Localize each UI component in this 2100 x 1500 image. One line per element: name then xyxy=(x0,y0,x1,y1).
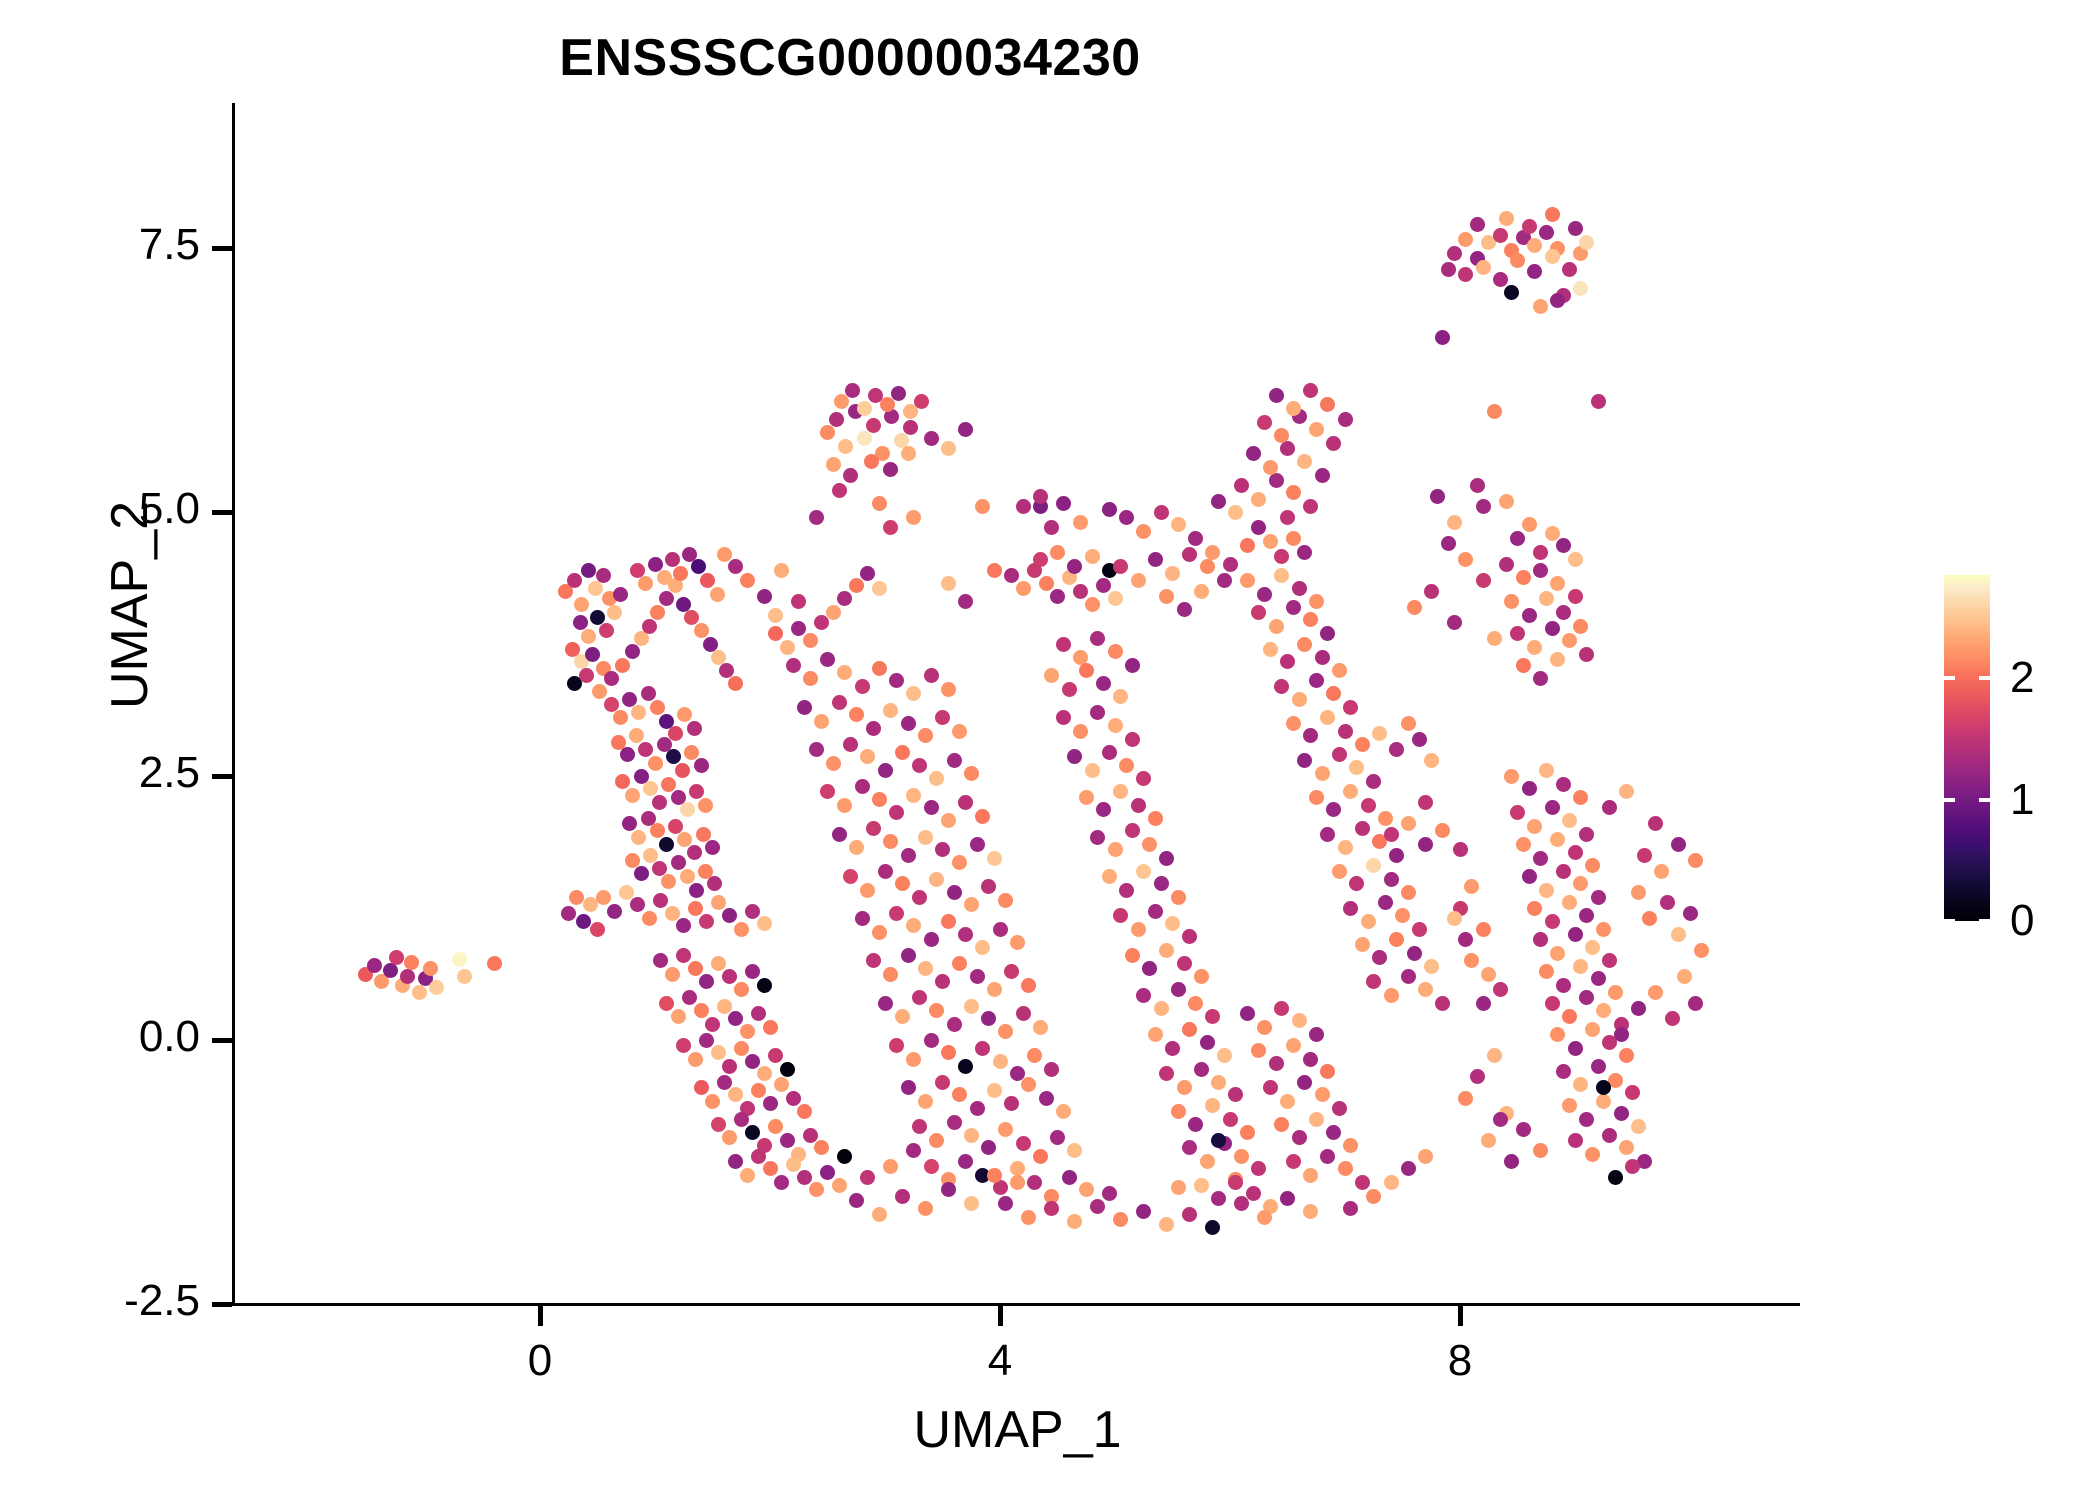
scatter-point xyxy=(722,969,737,984)
scatter-point xyxy=(694,1003,709,1018)
scatter-point xyxy=(1211,1133,1226,1148)
scatter-point xyxy=(1200,1154,1215,1169)
scatter-point xyxy=(1401,816,1416,831)
scatter-point xyxy=(1533,299,1548,314)
scatter-point xyxy=(680,802,695,817)
scatter-point xyxy=(895,876,910,891)
scatter-point xyxy=(1585,1022,1600,1037)
scatter-point xyxy=(717,547,732,562)
scatter-point xyxy=(1044,1062,1059,1077)
scatter-point xyxy=(883,1159,898,1174)
scatter-point xyxy=(878,763,893,778)
scatter-point xyxy=(1223,557,1238,572)
scatter-point xyxy=(1470,1069,1485,1084)
scatter-point xyxy=(1332,864,1347,879)
scatter-point xyxy=(1280,1191,1295,1206)
scatter-point xyxy=(1200,559,1215,574)
x-axis-title: UMAP_1 xyxy=(235,1400,1800,1460)
scatter-point xyxy=(763,1161,778,1176)
scatter-point xyxy=(1487,631,1502,646)
scatter-point xyxy=(1533,563,1548,578)
y-tick-mark xyxy=(212,1038,232,1043)
scatter-point xyxy=(1539,883,1554,898)
scatter-point xyxy=(1602,800,1617,815)
scatter-point xyxy=(1182,1022,1197,1037)
scatter-point xyxy=(659,837,674,852)
scatter-point xyxy=(803,1128,818,1143)
scatter-point xyxy=(1016,1136,1031,1151)
scatter-point xyxy=(1286,1038,1301,1053)
scatter-point xyxy=(906,1143,921,1158)
scatter-point xyxy=(1516,570,1531,585)
scatter-point xyxy=(1148,552,1163,567)
scatter-point xyxy=(722,908,737,923)
scatter-point xyxy=(1568,589,1583,604)
scatter-point xyxy=(1159,943,1174,958)
scatter-point xyxy=(596,568,611,583)
scatter-point xyxy=(1108,591,1123,606)
scatter-point xyxy=(843,737,858,752)
scatter-point xyxy=(786,658,801,673)
scatter-point xyxy=(641,686,656,701)
scatter-point xyxy=(1476,260,1491,275)
scatter-point xyxy=(941,813,956,828)
scatter-point xyxy=(987,851,1002,866)
scatter-point xyxy=(1343,901,1358,916)
scatter-point xyxy=(1332,663,1347,678)
scatter-point xyxy=(1401,716,1416,731)
scatter-point xyxy=(1562,262,1577,277)
scatter-point xyxy=(688,961,703,976)
scatter-point xyxy=(1527,819,1542,834)
scatter-point xyxy=(832,695,847,710)
scatter-point xyxy=(1108,718,1123,733)
scatter-point xyxy=(1182,1207,1197,1222)
scatter-point xyxy=(740,1168,755,1183)
scatter-point xyxy=(1539,225,1554,240)
scatter-point xyxy=(1320,1149,1335,1164)
scatter-point xyxy=(694,623,709,638)
scatter-point xyxy=(832,1178,847,1193)
scatter-point xyxy=(906,686,921,701)
scatter-point xyxy=(1251,1043,1266,1058)
scatter-point xyxy=(1625,1085,1640,1100)
scatter-point xyxy=(1148,904,1163,919)
scatter-point xyxy=(1384,872,1399,887)
scatter-point xyxy=(1642,911,1657,926)
scatter-point xyxy=(1067,749,1082,764)
scatter-point xyxy=(1269,388,1284,403)
scatter-point xyxy=(1338,1161,1353,1176)
scatter-point xyxy=(1056,1104,1071,1119)
scatter-point xyxy=(947,885,962,900)
scatter-point xyxy=(1326,802,1341,817)
scatter-point xyxy=(774,1077,789,1092)
scatter-point xyxy=(1464,953,1479,968)
y-axis-title: UMAP_2 xyxy=(85,415,175,795)
scatter-point xyxy=(906,788,921,803)
scatter-point xyxy=(642,911,657,926)
scatter-point xyxy=(941,914,956,929)
scatter-point xyxy=(820,425,835,440)
scatter-point xyxy=(929,1003,944,1018)
scatter-point xyxy=(1545,996,1560,1011)
scatter-point xyxy=(1361,798,1376,813)
scatter-point xyxy=(1102,502,1117,517)
scatter-point xyxy=(1286,716,1301,731)
scatter-point xyxy=(757,916,772,931)
scatter-point xyxy=(981,1011,996,1026)
scatter-point xyxy=(585,647,600,662)
scatter-point xyxy=(1573,619,1588,634)
scatter-point xyxy=(860,883,875,898)
scatter-point xyxy=(1096,578,1111,593)
scatter-point xyxy=(1165,916,1180,931)
scatter-point xyxy=(872,661,887,676)
scatter-point xyxy=(1205,1220,1220,1235)
scatter-point xyxy=(1131,922,1146,937)
scatter-point xyxy=(1234,478,1249,493)
scatter-point xyxy=(1033,489,1048,504)
scatter-point xyxy=(1366,974,1381,989)
scatter-point xyxy=(650,700,665,715)
scatter-point xyxy=(998,1122,1013,1137)
scatter-point xyxy=(1665,1011,1680,1026)
scatter-point xyxy=(1148,1027,1163,1042)
scatter-point xyxy=(1102,1186,1117,1201)
scatter-point xyxy=(1286,600,1301,615)
scatter-point xyxy=(1573,876,1588,891)
scatter-point xyxy=(711,956,726,971)
scatter-point xyxy=(901,948,916,963)
page-title: ENSSSCG00000034230 xyxy=(0,28,1700,88)
scatter-point xyxy=(1159,589,1174,604)
scatter-point xyxy=(797,1104,812,1119)
scatter-point xyxy=(1550,1027,1565,1042)
scatter-point xyxy=(1171,1180,1186,1195)
scatter-point xyxy=(650,605,665,620)
scatter-point xyxy=(745,1054,760,1069)
y-tick-mark xyxy=(212,1302,232,1307)
scatter-point xyxy=(1102,745,1117,760)
scatter-point xyxy=(1067,1143,1082,1158)
scatter-point xyxy=(1481,1133,1496,1148)
scatter-point xyxy=(1154,876,1169,891)
scatter-point xyxy=(1389,742,1404,757)
scatter-point xyxy=(1688,996,1703,1011)
scatter-point xyxy=(1556,978,1571,993)
scatter-point xyxy=(1205,1009,1220,1024)
scatter-point xyxy=(1596,922,1611,937)
scatter-point xyxy=(1205,545,1220,560)
scatter-point xyxy=(1033,1149,1048,1164)
scatter-point xyxy=(757,1066,772,1081)
scatter-point xyxy=(1614,1106,1629,1121)
scatter-point xyxy=(1568,552,1583,567)
scatter-point xyxy=(1292,1013,1307,1028)
scatter-point xyxy=(1654,864,1669,879)
scatter-point xyxy=(676,918,691,933)
scatter-point xyxy=(935,1075,950,1090)
scatter-point xyxy=(1125,732,1140,747)
scatter-point xyxy=(1177,1080,1192,1095)
scatter-point xyxy=(774,563,789,578)
scatter-point xyxy=(914,394,929,409)
scatter-point xyxy=(1119,758,1134,773)
scatter-point xyxy=(780,1062,795,1077)
scatter-point xyxy=(1476,922,1491,937)
scatter-point xyxy=(883,967,898,982)
scatter-point xyxy=(1286,485,1301,500)
scatter-point xyxy=(866,953,881,968)
scatter-point xyxy=(1125,658,1140,673)
scatter-point xyxy=(895,1189,910,1204)
scatter-point xyxy=(1297,753,1312,768)
scatter-point xyxy=(1177,602,1192,617)
scatter-point xyxy=(1527,264,1542,279)
scatter-point xyxy=(1131,573,1146,588)
scatter-point xyxy=(1694,943,1709,958)
scatter-point xyxy=(1240,1006,1255,1021)
scatter-point xyxy=(1591,1059,1606,1074)
scatter-point xyxy=(1522,869,1537,884)
colorbar-tick xyxy=(1944,798,1955,802)
scatter-point xyxy=(1320,827,1335,842)
scatter-point xyxy=(671,1009,686,1024)
scatter-point xyxy=(883,520,898,535)
scatter-point xyxy=(1165,1041,1180,1056)
scatter-point xyxy=(1320,1064,1335,1079)
colorbar-tick xyxy=(1979,798,1990,802)
scatter-point xyxy=(1010,1175,1025,1190)
scatter-point xyxy=(1573,790,1588,805)
scatter-point xyxy=(1073,515,1088,530)
scatter-point xyxy=(1585,858,1600,873)
scatter-point xyxy=(1556,538,1571,553)
scatter-point xyxy=(941,1182,956,1197)
scatter-point xyxy=(1568,845,1583,860)
scatter-point xyxy=(1004,1096,1019,1111)
scatter-point xyxy=(1562,1098,1577,1113)
scatter-point xyxy=(607,904,622,919)
scatter-point xyxy=(1671,837,1686,852)
scatter-point xyxy=(1545,800,1560,815)
scatter-point xyxy=(1286,1154,1301,1169)
scatter-point xyxy=(918,1094,933,1109)
scatter-point xyxy=(1435,330,1450,345)
scatter-point xyxy=(1533,671,1548,686)
scatter-point xyxy=(590,922,605,937)
scatter-point xyxy=(1119,510,1134,525)
scatter-point xyxy=(1315,650,1330,665)
scatter-point xyxy=(964,766,979,781)
scatter-point xyxy=(1568,221,1583,236)
y-tick-label: 0.0 xyxy=(0,1012,200,1062)
scatter-point xyxy=(1044,1201,1059,1216)
scatter-point xyxy=(1320,626,1335,641)
scatter-point xyxy=(1499,494,1514,509)
scatter-point xyxy=(1401,885,1416,900)
scatter-point xyxy=(1113,559,1128,574)
scatter-point xyxy=(1194,584,1209,599)
scatter-point xyxy=(1545,207,1560,222)
scatter-point xyxy=(574,597,589,612)
scatter-point xyxy=(1545,621,1560,636)
scatter-point xyxy=(676,1038,691,1053)
scatter-point xyxy=(1119,883,1134,898)
scatter-point xyxy=(1527,640,1542,655)
scatter-point xyxy=(1131,798,1146,813)
scatter-point xyxy=(1004,568,1019,583)
scatter-point xyxy=(975,499,990,514)
scatter-point xyxy=(1493,1112,1508,1127)
scatter-point xyxy=(1585,940,1600,955)
scatter-point xyxy=(1326,1125,1341,1140)
scatter-point xyxy=(1016,581,1031,596)
scatter-point xyxy=(688,901,703,916)
scatter-point xyxy=(1418,982,1433,997)
scatter-point xyxy=(1274,568,1289,583)
scatter-point xyxy=(607,605,622,620)
scatter-point xyxy=(970,969,985,984)
scatter-point xyxy=(964,897,979,912)
scatter-point xyxy=(1228,1087,1243,1102)
scatter-point xyxy=(1522,219,1537,234)
scatter-point xyxy=(1309,422,1324,437)
scatter-point xyxy=(1602,953,1617,968)
scatter-point xyxy=(912,890,927,905)
x-tick-mark xyxy=(1458,1306,1463,1326)
scatter-point xyxy=(1044,668,1059,683)
scatter-point xyxy=(367,958,382,973)
scatter-point xyxy=(579,668,594,683)
scatter-point xyxy=(924,1033,939,1048)
scatter-point xyxy=(1217,1048,1232,1063)
scatter-point xyxy=(866,821,881,836)
scatter-point xyxy=(383,963,398,978)
scatter-point xyxy=(1136,1204,1151,1219)
scatter-point xyxy=(1418,837,1433,852)
scatter-point xyxy=(935,842,950,857)
scatter-point xyxy=(1280,654,1295,669)
scatter-point xyxy=(883,703,898,718)
scatter-point xyxy=(797,1170,812,1185)
x-tick-mark xyxy=(538,1306,543,1326)
scatter-point xyxy=(883,834,898,849)
scatter-point xyxy=(1504,769,1519,784)
scatter-point xyxy=(1257,1210,1272,1225)
scatter-point xyxy=(1297,545,1312,560)
scatter-point xyxy=(1050,545,1065,560)
scatter-point xyxy=(1573,1077,1588,1092)
scatter-point xyxy=(1085,549,1100,564)
scatter-point xyxy=(710,587,725,602)
scatter-point xyxy=(1550,293,1565,308)
scatter-point xyxy=(1568,1133,1583,1148)
scatter-point xyxy=(768,608,783,623)
scatter-point xyxy=(1171,890,1186,905)
scatter-point xyxy=(918,1201,933,1216)
scatter-point xyxy=(1539,763,1554,778)
scatter-point xyxy=(1148,811,1163,826)
scatter-point xyxy=(1205,1098,1220,1113)
scatter-point xyxy=(1424,584,1439,599)
scatter-point xyxy=(717,1075,732,1090)
scatter-point xyxy=(567,573,582,588)
scatter-point xyxy=(912,1119,927,1134)
scatter-point xyxy=(1073,584,1088,599)
scatter-point xyxy=(634,866,649,881)
scatter-point xyxy=(1050,1130,1065,1145)
scatter-point xyxy=(1200,1035,1215,1050)
scatter-point xyxy=(1522,517,1537,532)
scatter-point xyxy=(1142,837,1157,852)
scatter-point xyxy=(826,457,841,472)
scatter-point xyxy=(625,788,640,803)
scatter-point xyxy=(1573,281,1588,296)
scatter-point xyxy=(1211,1075,1226,1090)
scatter-point xyxy=(657,570,672,585)
scatter-point xyxy=(952,724,967,739)
scatter-point xyxy=(728,1087,743,1102)
scatter-point xyxy=(1631,1001,1646,1016)
scatter-point xyxy=(1441,262,1456,277)
scatter-point xyxy=(423,961,438,976)
scatter-point xyxy=(429,980,444,995)
scatter-point xyxy=(569,890,584,905)
scatter-point xyxy=(1303,612,1318,627)
scatter-point xyxy=(698,798,713,813)
scatter-point xyxy=(1556,777,1571,792)
scatter-point xyxy=(768,1048,783,1063)
scatter-point xyxy=(1182,929,1197,944)
scatter-point xyxy=(1395,908,1410,923)
scatter-point xyxy=(1671,927,1686,942)
scatter-point xyxy=(1125,948,1140,963)
scatter-point xyxy=(703,637,718,652)
scatter-point xyxy=(604,697,619,712)
scatter-point xyxy=(918,728,933,743)
scatter-point xyxy=(1510,626,1525,641)
scatter-point xyxy=(1619,784,1634,799)
scatter-point xyxy=(975,940,990,955)
scatter-point xyxy=(998,1196,1013,1211)
scatter-point xyxy=(1211,494,1226,509)
scatter-point xyxy=(1550,946,1565,961)
scatter-point xyxy=(1556,1064,1571,1079)
scatter-point xyxy=(1343,700,1358,715)
scatter-point xyxy=(1303,383,1318,398)
x-tick-mark xyxy=(998,1306,1003,1326)
scatter-point xyxy=(1447,911,1462,926)
scatter-point xyxy=(1562,633,1577,648)
scatter-point xyxy=(1510,531,1525,546)
scatter-point xyxy=(906,510,921,525)
scatter-point xyxy=(1240,538,1255,553)
scatter-point xyxy=(1412,732,1427,747)
scatter-point xyxy=(1458,932,1473,947)
scatter-point xyxy=(722,1130,737,1145)
scatter-point xyxy=(1021,1210,1036,1225)
scatter-point xyxy=(1246,446,1261,461)
colorbar-tick xyxy=(1944,919,1955,923)
scatter-point xyxy=(1591,394,1606,409)
scatter-point xyxy=(1315,766,1330,781)
scatter-point xyxy=(1338,412,1353,427)
scatter-point xyxy=(1315,1087,1330,1102)
scatter-point xyxy=(941,576,956,591)
scatter-point xyxy=(1332,747,1347,762)
